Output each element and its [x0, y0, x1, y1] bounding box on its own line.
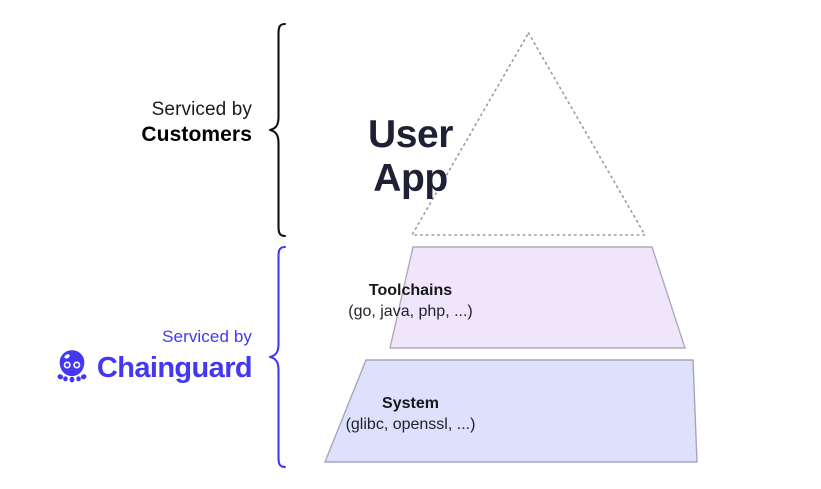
- toolchains-shape: [390, 247, 685, 348]
- diagram-canvas: Serviced by Customers Serviced by: [0, 0, 821, 489]
- pyramid-shapes: [0, 0, 821, 489]
- user-app-shape: [412, 33, 645, 235]
- system-shape: [325, 360, 697, 462]
